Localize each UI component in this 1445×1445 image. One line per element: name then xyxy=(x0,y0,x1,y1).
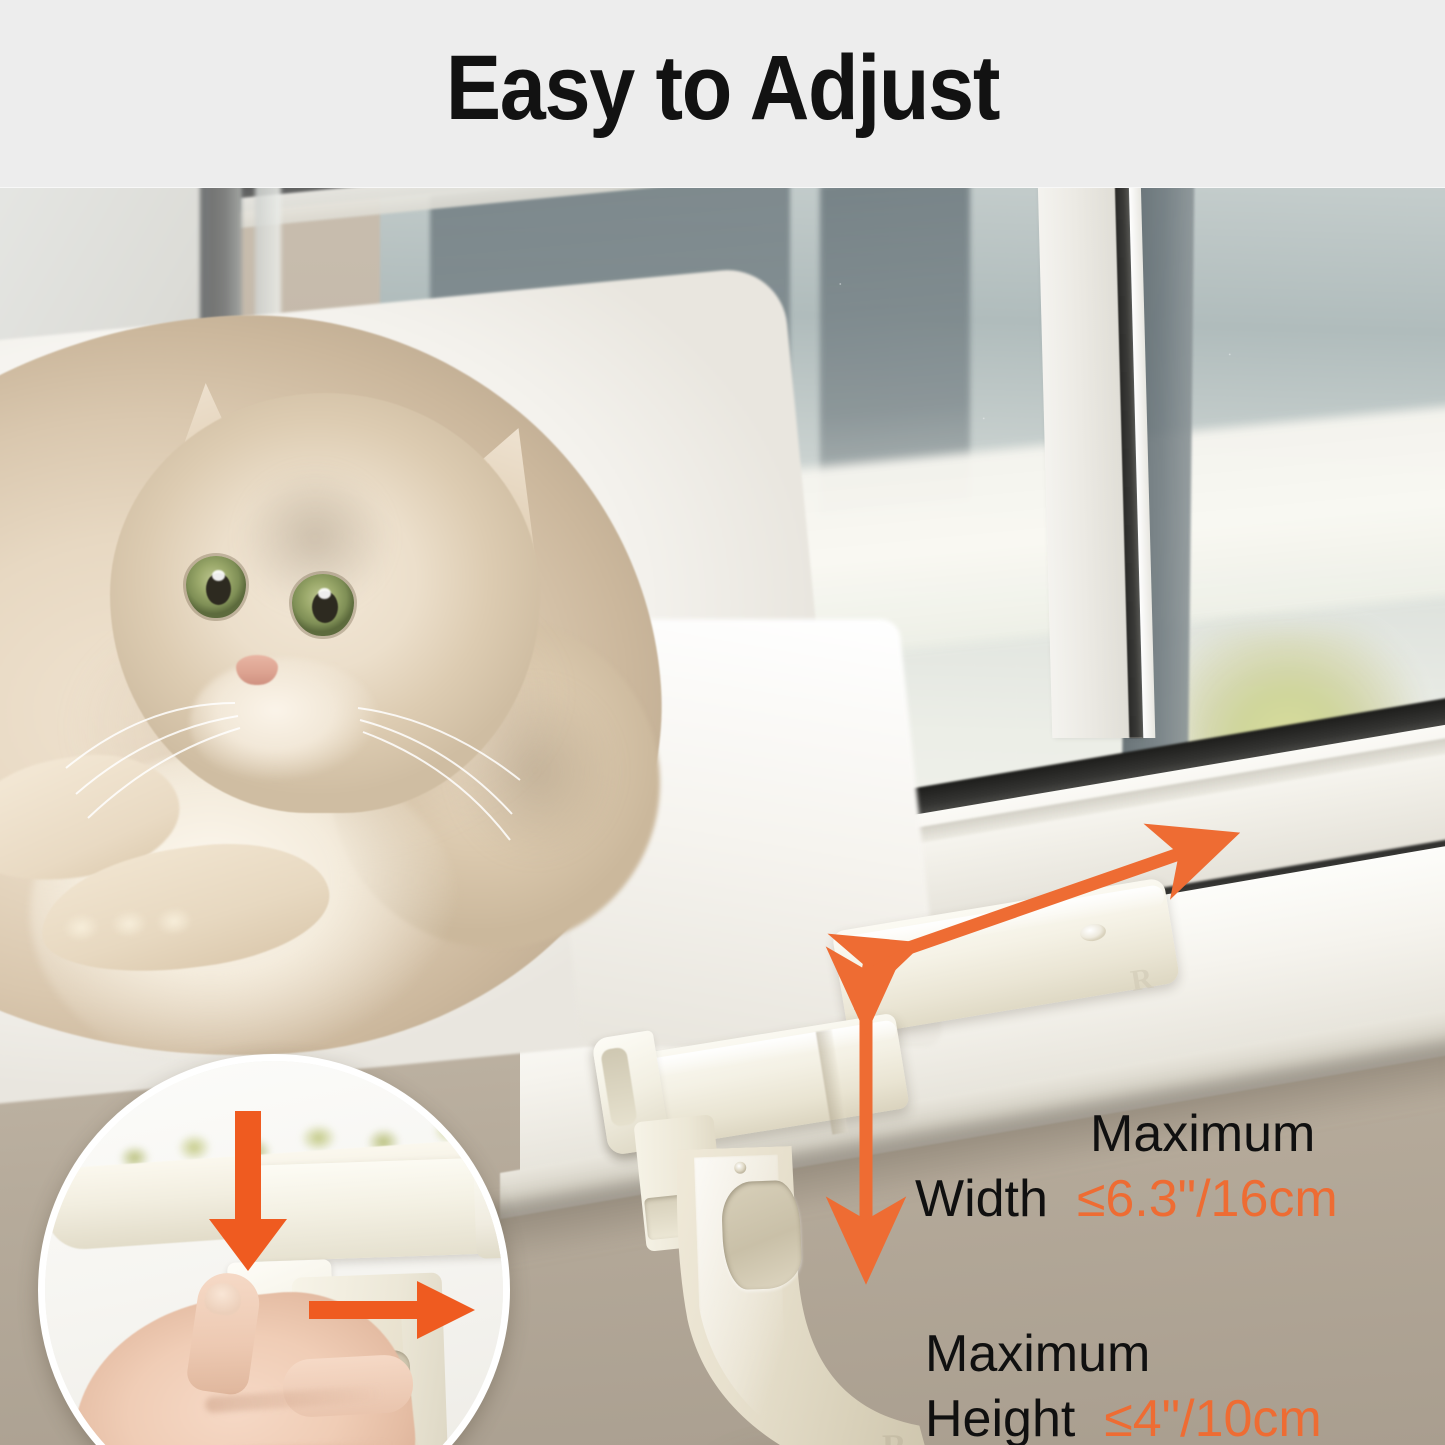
adjustment-detail-inset xyxy=(38,1054,510,1445)
product-photo: R R xyxy=(0,188,1445,1445)
page-title: Easy to Adjust xyxy=(72,40,1373,136)
bracket-hook-body xyxy=(642,1141,945,1445)
bracket-upper-arm-marking: R xyxy=(1128,961,1159,999)
bracket-hook: R xyxy=(642,1141,945,1445)
max-width-label-text: Width xyxy=(915,1170,1048,1228)
max-width-label-line2: Width ≤6.3"/16cm xyxy=(915,1173,1338,1225)
inset-thumb xyxy=(282,1354,415,1419)
press-down-arrow xyxy=(195,1111,315,1281)
cat-right-eye-glint xyxy=(318,588,331,599)
max-height-value: ≤4"/10cm xyxy=(1104,1390,1322,1445)
slide-right-arrow xyxy=(309,1275,479,1345)
max-width-label-line1: Maximum xyxy=(1090,1108,1315,1160)
max-height-label-space xyxy=(1075,1390,1104,1445)
bracket-hook-cutout xyxy=(721,1180,803,1291)
max-width-value: ≤6.3"/16cm xyxy=(1077,1170,1338,1228)
cat-muzzle xyxy=(190,658,380,788)
bracket-hook-marking: R xyxy=(882,1428,913,1445)
max-height-label-line2: Height ≤4"/10cm xyxy=(925,1393,1322,1445)
max-width-label-space xyxy=(1048,1170,1077,1228)
product-infographic-page: Easy to Adjust xyxy=(0,0,1445,1445)
max-height-label-text: Height xyxy=(925,1390,1075,1445)
cat-left-eye-glint xyxy=(212,570,225,581)
max-height-label-line1: Maximum xyxy=(925,1328,1150,1380)
